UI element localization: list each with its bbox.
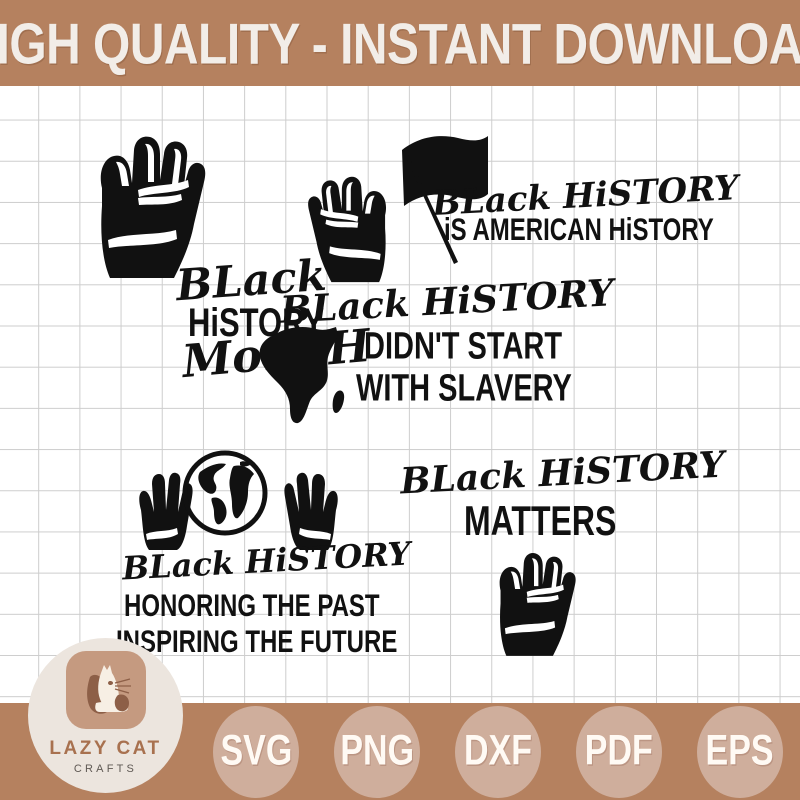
raised-fist-right-icon [318,170,400,290]
design-2-line-2: iS AMERICAN HiSTORY [444,217,714,247]
format-badge-list: SVG PNG DXF PDF EPS [196,703,800,800]
design-black-history-honoring-the-past: BLack HiSTORY HONORING THE PAST INSPIRIN… [108,448,368,648]
globe-icon [182,450,268,536]
africa-continent-icon [250,321,360,426]
format-badge-eps: EPS [697,706,783,798]
logo-subtitle: CRAFTS [74,763,137,775]
brand-logo: LAZY CAT CRAFTS [28,638,183,793]
design-black-history-matters: BLack HiSTORY MATTERS [394,450,684,660]
format-badge-svg-label: SVG [220,727,292,776]
design-black-history-is-american-history: BLack HiSTORY iS AMERICAN HiSTORY [396,108,696,268]
design-5-line-2: MATTERS [464,501,616,541]
logo-frame [66,651,146,729]
design-black-history-didnt-start-with-slavery: BLack HiSTORY DIDN'T START WITH SLAVERY [250,278,550,418]
format-badge-svg: SVG [213,706,299,798]
design-3-line-2: DIDN'T START [364,330,562,366]
design-3-line-3: WITH SLAVERY [356,372,572,408]
raised-fist-icon [486,546,566,664]
design-5-line-1: BLack HiSTORY [399,448,725,499]
format-badge-pdf: PDF [576,706,662,798]
design-4-line-3: INSPIRING THE FUTURE [116,629,397,659]
top-promo-banner: HIGH QUALITY - INSTANT DOWNLOAD [0,0,800,86]
design-4-line-2: HONORING THE PAST [124,593,380,623]
format-badge-png: PNG [334,706,420,798]
format-badge-eps-label: EPS [706,727,774,776]
format-badge-dxf-label: DXF [464,727,532,776]
format-badge-png-label: PNG [340,727,414,776]
logo-name: LAZY CAT [49,738,161,760]
format-badge-dxf: DXF [455,706,541,798]
product-listing-image: HIGH QUALITY - INSTANT DOWNLOAD BLack Hi… [0,0,800,800]
cat-icon [74,659,138,721]
promo-banner-text: HIGH QUALITY - INSTANT DOWNLOAD [0,14,800,71]
design-black-history-month: BLack HiSTORY MonTH [78,118,408,293]
format-badge-pdf-label: PDF [585,727,653,776]
